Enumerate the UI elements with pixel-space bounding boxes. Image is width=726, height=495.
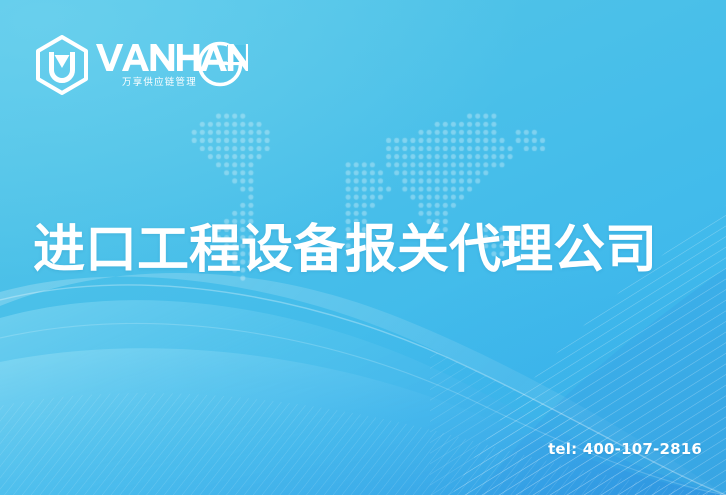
brand-logo[interactable]: 万享供应链管理 [34, 34, 248, 96]
brand-wordmark-group: 万享供应链管理 [96, 39, 248, 91]
vanhang-hexagon-mark-icon [34, 35, 90, 95]
vanhang-wordmark-icon: 万享供应链管理 [96, 39, 248, 91]
page-title: 进口工程设备报关代理公司 [33, 219, 705, 281]
contact-phone[interactable]: tel: 400-107-2816 [548, 440, 702, 458]
promo-banner: 万享供应链管理 进口工程设备报关代理公司 tel: 400-107-2816 [0, 0, 726, 495]
brand-chinese-subtitle: 万享供应链管理 [122, 76, 197, 88]
